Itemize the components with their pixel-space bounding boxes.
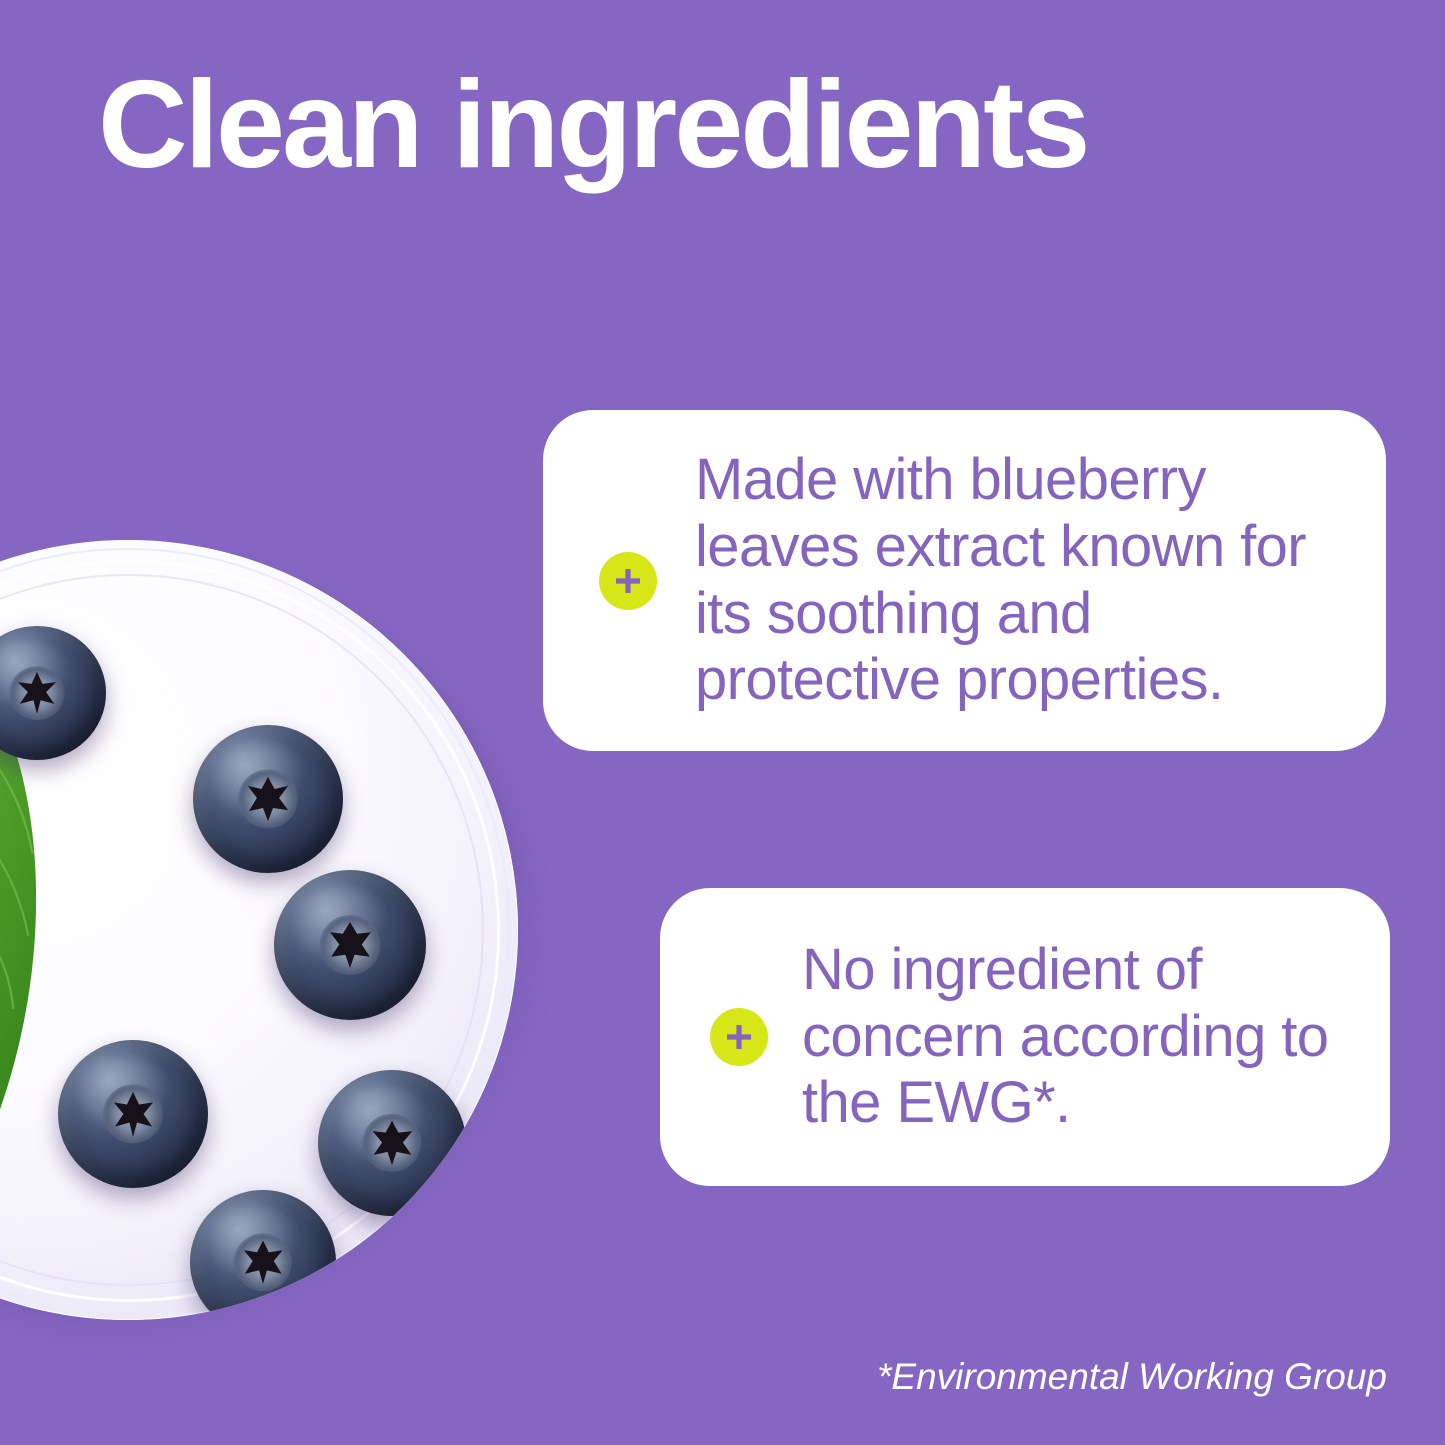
plus-icon xyxy=(710,1008,768,1066)
infographic-canvas: Clean ingredients xyxy=(0,0,1445,1445)
benefit-card-1[interactable]: Made with blueberry leaves extract known… xyxy=(543,410,1386,751)
page-title: Clean ingredients xyxy=(98,62,1198,188)
blueberry-leaf-front xyxy=(0,669,138,1320)
blueberry-upper-mid xyxy=(193,725,343,873)
blueberry-bottom xyxy=(190,1190,336,1320)
benefit-card-2-text: No ingredient of concern according to th… xyxy=(802,937,1350,1138)
footnote-text: *Environmental Working Group xyxy=(877,1356,1387,1398)
benefit-card-1-text: Made with blueberry leaves extract known… xyxy=(695,447,1342,715)
petri-dish-blueberries-photo xyxy=(0,540,548,1350)
plus-icon xyxy=(599,552,657,610)
blueberry-lower-right xyxy=(318,1070,466,1216)
blueberry-lower-left xyxy=(58,1040,208,1188)
blueberry-center xyxy=(274,870,426,1020)
benefit-card-2[interactable]: No ingredient of concern according to th… xyxy=(660,888,1390,1186)
